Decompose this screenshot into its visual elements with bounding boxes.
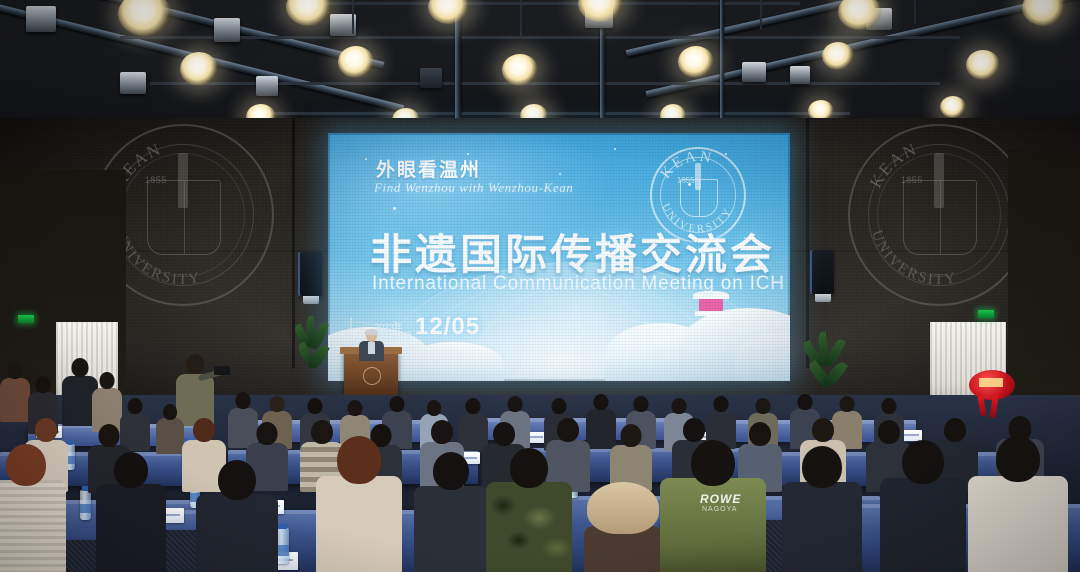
- stage-spotlight: [502, 54, 538, 86]
- attendee: [96, 452, 166, 572]
- attendee-camouflage-jacket: [486, 448, 572, 572]
- attendee: [414, 452, 488, 572]
- conference-photo: KEAN UNIVERSITY 1855 KEAN UNIVERSITY 185…: [0, 0, 1080, 572]
- stage-spotlight: [180, 52, 218, 86]
- stage-spotlight: [966, 50, 1000, 80]
- ceiling-rig: [0, 0, 1080, 132]
- attendee-with-beret: [584, 478, 662, 572]
- attendee: [0, 444, 66, 572]
- exit-sign-left: [18, 315, 34, 323]
- attendee: [880, 440, 966, 572]
- stage-spotlight: [338, 46, 374, 78]
- wall-kean-seal-right: KEAN UNIVERSITY 1855: [848, 124, 1030, 306]
- potted-plant-right: [806, 330, 850, 400]
- jacket-brand-sub: NAGOYA: [702, 506, 737, 513]
- stage-spotlight: [822, 42, 854, 70]
- led-presentation-screen: KEAN UNIVERSITY 1855 外眼看温州 Find Wenzhou …: [328, 133, 790, 381]
- attendee: [782, 446, 862, 572]
- attendee: [0, 362, 30, 420]
- jacket-brand-text: ROWE: [700, 492, 741, 506]
- stage-spotlight: [118, 0, 172, 36]
- seal-year-right: 1855: [901, 175, 923, 185]
- attendee: [156, 404, 184, 452]
- stage-spotlight: [940, 96, 966, 118]
- red-floral-decoration: [965, 368, 1019, 418]
- exit-sign-right: [978, 310, 994, 318]
- speaker-at-podium: [357, 330, 385, 358]
- seal-year-left: 1855: [145, 175, 167, 185]
- stage-spotlight: [678, 46, 714, 78]
- wall-speaker-left: [300, 252, 322, 296]
- attendee: [196, 460, 278, 572]
- water-bottle: [80, 490, 91, 520]
- attendee: [316, 436, 402, 572]
- attendee: [968, 436, 1068, 572]
- stage-spotlight: [428, 0, 470, 24]
- potted-plant-left: [296, 316, 330, 386]
- stage-spotlight: [286, 0, 332, 26]
- stage-spotlight: [1022, 0, 1066, 26]
- wall-speaker-right: [812, 250, 834, 294]
- attendee: [92, 372, 122, 430]
- camera: [214, 366, 230, 375]
